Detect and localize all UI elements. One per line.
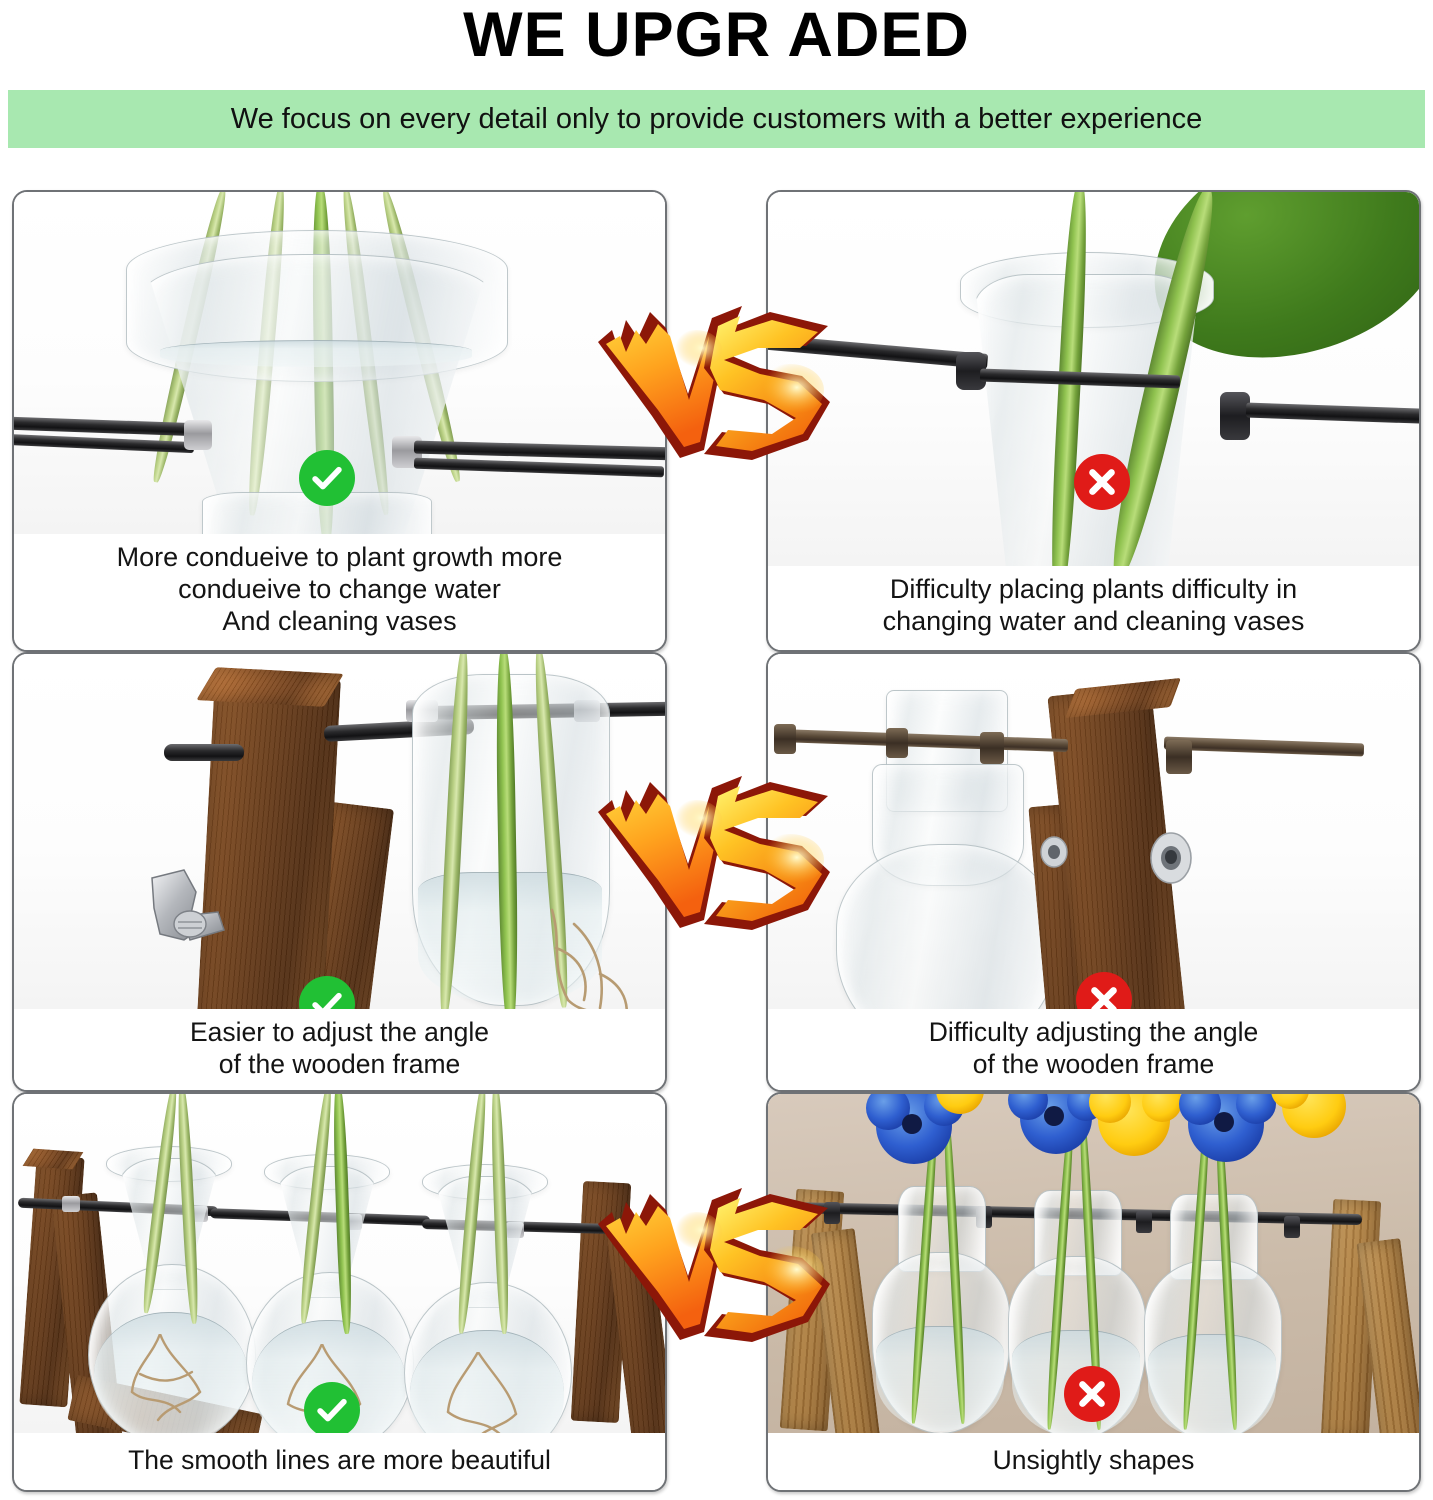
card-caption: Unsightly shapes [768,1433,1419,1490]
comparison-grid: More condueive to plant growth more cond… [0,190,1433,1500]
check-icon [313,1391,351,1429]
check-icon [308,985,346,1009]
flowers [828,1094,1348,1210]
cross-icon [1073,1375,1111,1413]
photo-narrow-vase [768,192,1419,566]
cross-icon [1085,981,1123,1009]
card-caption: Difficulty placing plants difficulty in … [768,566,1419,650]
photo-wood-frame-wingnut [14,654,665,1009]
check-badge [304,1382,360,1433]
photo-wood-frame-screw [768,654,1419,1009]
card-row3-bad[interactable]: Unsightly shapes [766,1092,1421,1492]
screw-washer [1148,830,1194,886]
card-caption: More condueive to plant growth more cond… [14,534,665,650]
card-row1-bad[interactable]: Difficulty placing plants difficulty in … [766,190,1421,652]
card-caption: Easier to adjust the angle of the wooden… [14,1009,665,1090]
card-caption: The smooth lines are more beautiful [14,1433,665,1490]
card-row2-bad[interactable]: Difficulty adjusting the angle of the wo… [766,652,1421,1092]
comparison-row-3: The smooth lines are more beautiful [0,1092,1433,1492]
card-row1-good[interactable]: More condueive to plant growth more cond… [12,190,667,652]
cross-icon [1083,463,1121,501]
card-row2-good[interactable]: Easier to adjust the angle of the wooden… [12,652,667,1092]
card-row3-good[interactable]: The smooth lines are more beautiful [12,1092,667,1492]
check-icon [308,459,346,497]
photo-three-smooth-vases [14,1094,665,1433]
card-caption: Difficulty adjusting the angle of the wo… [768,1009,1419,1090]
plant-roots [534,904,654,1009]
photo-wide-mouth-vase [14,192,665,534]
photo-three-round-vases-flowers [768,1094,1419,1433]
cross-badge [1064,1366,1120,1422]
check-badge [299,450,355,506]
subtitle-text: We focus on every detail only to provide… [231,103,1202,136]
plant-roots [422,1352,552,1433]
cross-badge [1074,454,1130,510]
wing-nut [144,864,236,974]
page-title: WE UPGR ADED [0,0,1433,76]
subtitle-banner: We focus on every detail only to provide… [8,90,1425,148]
comparison-row-1: More condueive to plant growth more cond… [0,190,1433,652]
bracket-screw [1036,834,1072,870]
plant-roots [106,1334,236,1433]
comparison-row-2: Easier to adjust the angle of the wooden… [0,652,1433,1092]
